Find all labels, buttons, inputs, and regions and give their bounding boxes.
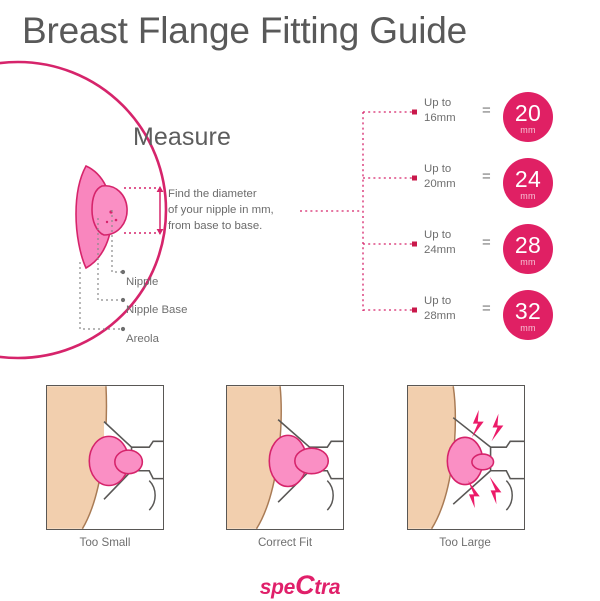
logo-part-3: tra [314,576,340,599]
flange-size-value: 24 [515,168,541,191]
flange-size-unit: mm [520,324,536,333]
flange-size-unit: mm [520,192,536,201]
measure-arrow-head-down [157,229,164,235]
pain-bolt-icon [492,414,504,442]
fit-panel-too-small [46,385,164,530]
too-small-illustration [47,386,163,529]
flange-size-value: 32 [515,300,541,323]
logo-part-c: C [295,570,314,600]
flange-size-badge: 20 mm [503,92,553,142]
size-condition: Up to 16mm [424,96,456,126]
fit-panel-too-large [407,385,525,530]
flange-tunnel [491,441,524,478]
label-nipple-base: Nipple Base [126,304,187,316]
pain-bolt-icon [490,477,502,505]
size-row-20mm: Up to 16mm = 20 mm [424,90,600,146]
chart-branch-dot [412,308,417,313]
measure-arrow-head-up [157,186,164,192]
chart-branch-dot [412,176,417,181]
pain-bolt-icon [472,410,484,438]
nipple-pore-icon [115,219,118,222]
equals-sign: = [482,234,491,251]
flange-size-value: 20 [515,102,541,125]
nipple-in-tunnel [295,448,328,474]
chart-branch-dot [412,110,417,115]
nipple-shape [92,186,127,235]
too-large-illustration [408,386,524,529]
size-condition: Up to 24mm [424,228,456,258]
size-row-28mm: Up to 24mm = 28 mm [424,222,600,278]
equals-sign: = [482,102,491,119]
equals-sign: = [482,300,491,317]
fit-panel-correct-fit [226,385,344,530]
size-condition: Up to 28mm [424,294,456,324]
leader-dot [121,327,125,331]
flange-bottle-neck [506,481,512,510]
flange-size-unit: mm [520,258,536,267]
fit-panel-label-too-large: Too Large [375,536,555,549]
equals-sign: = [482,168,491,185]
flange-bottle-neck [327,481,333,510]
leader-dot [121,270,125,274]
fit-panel-label-too-small: Too Small [15,536,195,549]
size-row-24mm: Up to 20mm = 24 mm [424,156,600,212]
infographic-root: Breast Flange Fitting Guide [0,0,600,600]
nipple-in-tunnel [472,454,494,470]
label-areola: Areola [126,333,159,345]
size-row-32mm: Up to 28mm = 32 mm [424,288,600,344]
nipple-pore-icon [106,221,108,223]
fit-panel-label-correct-fit: Correct Fit [195,536,375,549]
measure-instruction: Find the diameter of your nipple in mm, … [168,186,274,234]
nipple-in-tunnel [115,450,143,474]
label-nipple: Nipple [126,276,158,288]
spectra-logo: speCtra [0,570,600,601]
logo-part-1: spe [260,576,295,599]
correct-fit-illustration [227,386,343,529]
flange-bottle-neck [149,481,155,510]
flange-size-value: 28 [515,234,541,257]
flange-size-badge: 28 mm [503,224,553,274]
size-condition: Up to 20mm [424,162,456,192]
flange-size-unit: mm [520,126,536,135]
chart-branch-dot [412,242,417,247]
flange-size-badge: 24 mm [503,158,553,208]
leader-dot [121,298,125,302]
measure-heading: Measure [133,123,231,152]
flange-size-badge: 32 mm [503,290,553,340]
